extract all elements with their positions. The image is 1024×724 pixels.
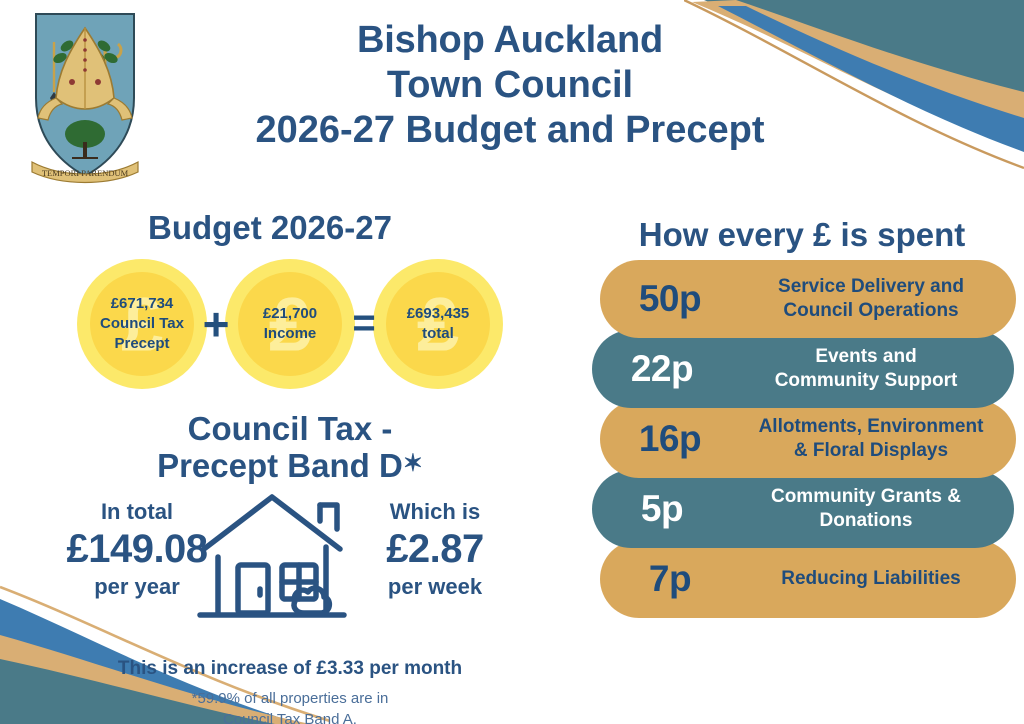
coin-income: £ £21,700 Income [225,259,355,389]
spend-item-allotments-environment: 16p Allotments, Environment & Floral Dis… [600,400,1016,478]
left-column: Budget 2026-27 £ £671,734 Council Tax Pr… [0,210,580,639]
spend-desc-line-2: Donations [732,509,1000,533]
coin-amount: £671,734 [100,294,184,314]
spend-item-pence: 50p [600,278,740,320]
spend-item-description: Allotments, Environment & Floral Display… [740,415,1016,462]
coin-label: £671,734 Council Tax Precept [96,294,188,353]
coin-council-tax-precept: £ £671,734 Council Tax Precept [77,259,207,389]
house-icon [192,489,352,629]
spend-desc-line-2: Council Operations [740,299,1002,323]
spend-desc-line-1: Events and [732,345,1000,369]
title-line-3: 2026-27 Budget and Precept [180,108,840,153]
crest-motto: TEMPORI PARENDUM [42,168,129,178]
spend-desc-line-1: Community Grants & [732,485,1000,509]
spend-desc-line-2: Community Support [732,369,1000,393]
spend-item-pence: 22p [592,348,732,390]
spend-desc-line-1: Allotments, Environment [740,415,1002,439]
coin-total: £ £693,435 total [373,259,503,389]
spend-item-description: Service Delivery and Council Operations [740,275,1016,322]
right-column: How every £ is spent 50p Service Deliver… [592,216,1012,610]
spend-desc-line-1: Reducing Liabilities [740,567,1002,591]
budget-coins-group: £ £671,734 Council Tax Precept + £ £21,7… [0,259,580,389]
council-tax-section-title: Council Tax - Precept Band D✶ [0,411,580,485]
weekly-amount: £2.87 [340,525,530,574]
coin-caption-1: total [407,324,470,344]
council-tax-figures: In total £149.08 per year [0,489,580,639]
asterisk-marker: ✶ [403,450,423,477]
coin-amount: £21,700 [263,304,317,324]
infographic-page: TEMPORI PARENDUM Bishop Auckland Town Co… [0,0,1024,724]
spend-breakdown-list: 50p Service Delivery and Council Operati… [592,260,1012,618]
council-tax-title-line-2: Precept Band D✶ [0,448,580,485]
plus-operator-icon: + [199,297,233,351]
coin-caption-1: Council Tax [100,314,184,334]
budget-section-title: Budget 2026-27 [0,210,580,247]
spend-desc-line-1: Service Delivery and [740,275,1002,299]
spend-item-pence: 7p [600,558,740,600]
coin-label: £693,435 total [403,304,474,344]
council-tax-title-line-1: Council Tax - [0,411,580,448]
council-tax-weekly-block: Which is £2.87 per week [340,499,530,600]
title-line-2: Town Council [180,63,840,108]
coin-caption-1: Income [263,324,317,344]
footnote-line-1: *59.9% of all properties are in [0,688,580,709]
per-week-caption: per week [340,574,530,600]
coin-label: £21,700 Income [259,304,321,344]
spend-item-pence: 16p [600,418,740,460]
equals-operator-icon: = [347,301,381,346]
spend-item-reducing-liabilities: 7p Reducing Liabilities [600,540,1016,618]
spend-item-events-community: 22p Events and Community Support [592,330,1014,408]
band-a-footnote: *59.9% of all properties are in Council … [0,688,580,724]
spend-item-description: Community Grants & Donations [732,485,1014,532]
title-line-1: Bishop Auckland [180,18,840,63]
which-is-caption: Which is [340,499,530,525]
coat-of-arms-crest: TEMPORI PARENDUM [22,6,148,186]
increase-note: This is an increase of £3.33 per month [0,658,580,680]
spend-desc-line-2: & Floral Displays [740,439,1002,463]
spend-item-description: Events and Community Support [732,345,1014,392]
coin-amount: £693,435 [407,304,470,324]
spend-section-title: How every £ is spent [592,216,1012,254]
coin-caption-2: Precept [100,334,184,354]
footnote-line-2: Council Tax Band A. [0,709,580,724]
spend-item-description: Reducing Liabilities [740,567,1016,591]
spend-item-pence: 5p [592,488,732,530]
spend-item-service-delivery: 50p Service Delivery and Council Operati… [600,260,1016,338]
page-title: Bishop Auckland Town Council 2026-27 Bud… [180,18,840,152]
spend-item-community-grants: 5p Community Grants & Donations [592,470,1014,548]
